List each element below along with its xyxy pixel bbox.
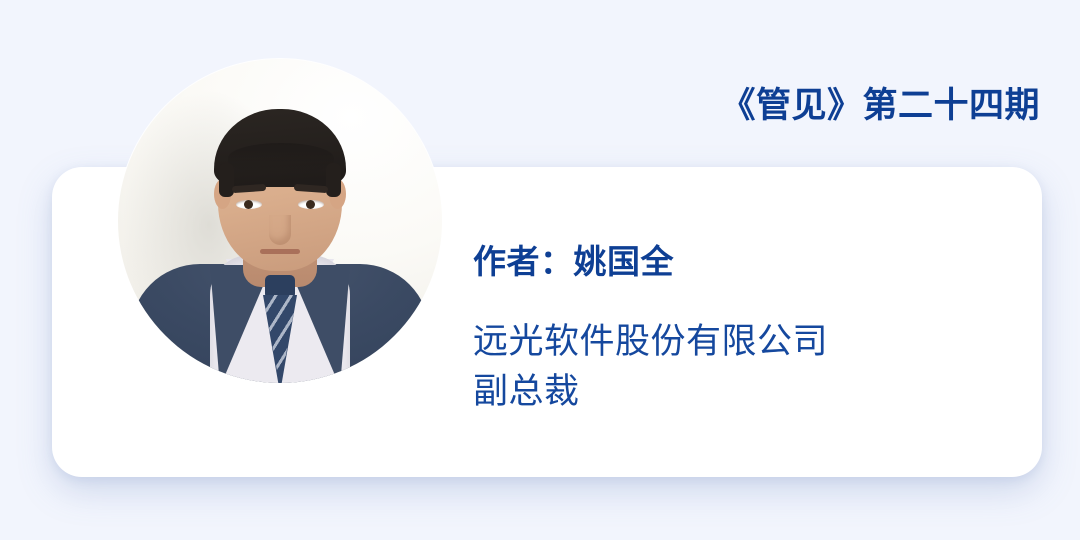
author-name: 作者：姚国全: [473, 240, 993, 284]
author-details: 作者：姚国全 远光软件股份有限公司 副总裁: [473, 240, 993, 417]
avatar-sideburn-left: [219, 163, 234, 197]
avatar-sideburn-right: [326, 163, 341, 197]
avatar-mouth: [260, 249, 300, 254]
job-title: 副总裁: [473, 367, 993, 417]
issue-title: 《管见》第二十四期: [600, 84, 1040, 128]
banner-stage: 《管见》第二十四期 作者：姚国全 远光软件股份有限公司 副总裁: [0, 0, 1080, 540]
avatar-nose: [269, 215, 291, 245]
avatar-eye-left: [236, 200, 262, 209]
organization-name: 远光软件股份有限公司: [473, 317, 993, 367]
avatar: [118, 59, 442, 383]
avatar-eye-right: [298, 200, 324, 209]
